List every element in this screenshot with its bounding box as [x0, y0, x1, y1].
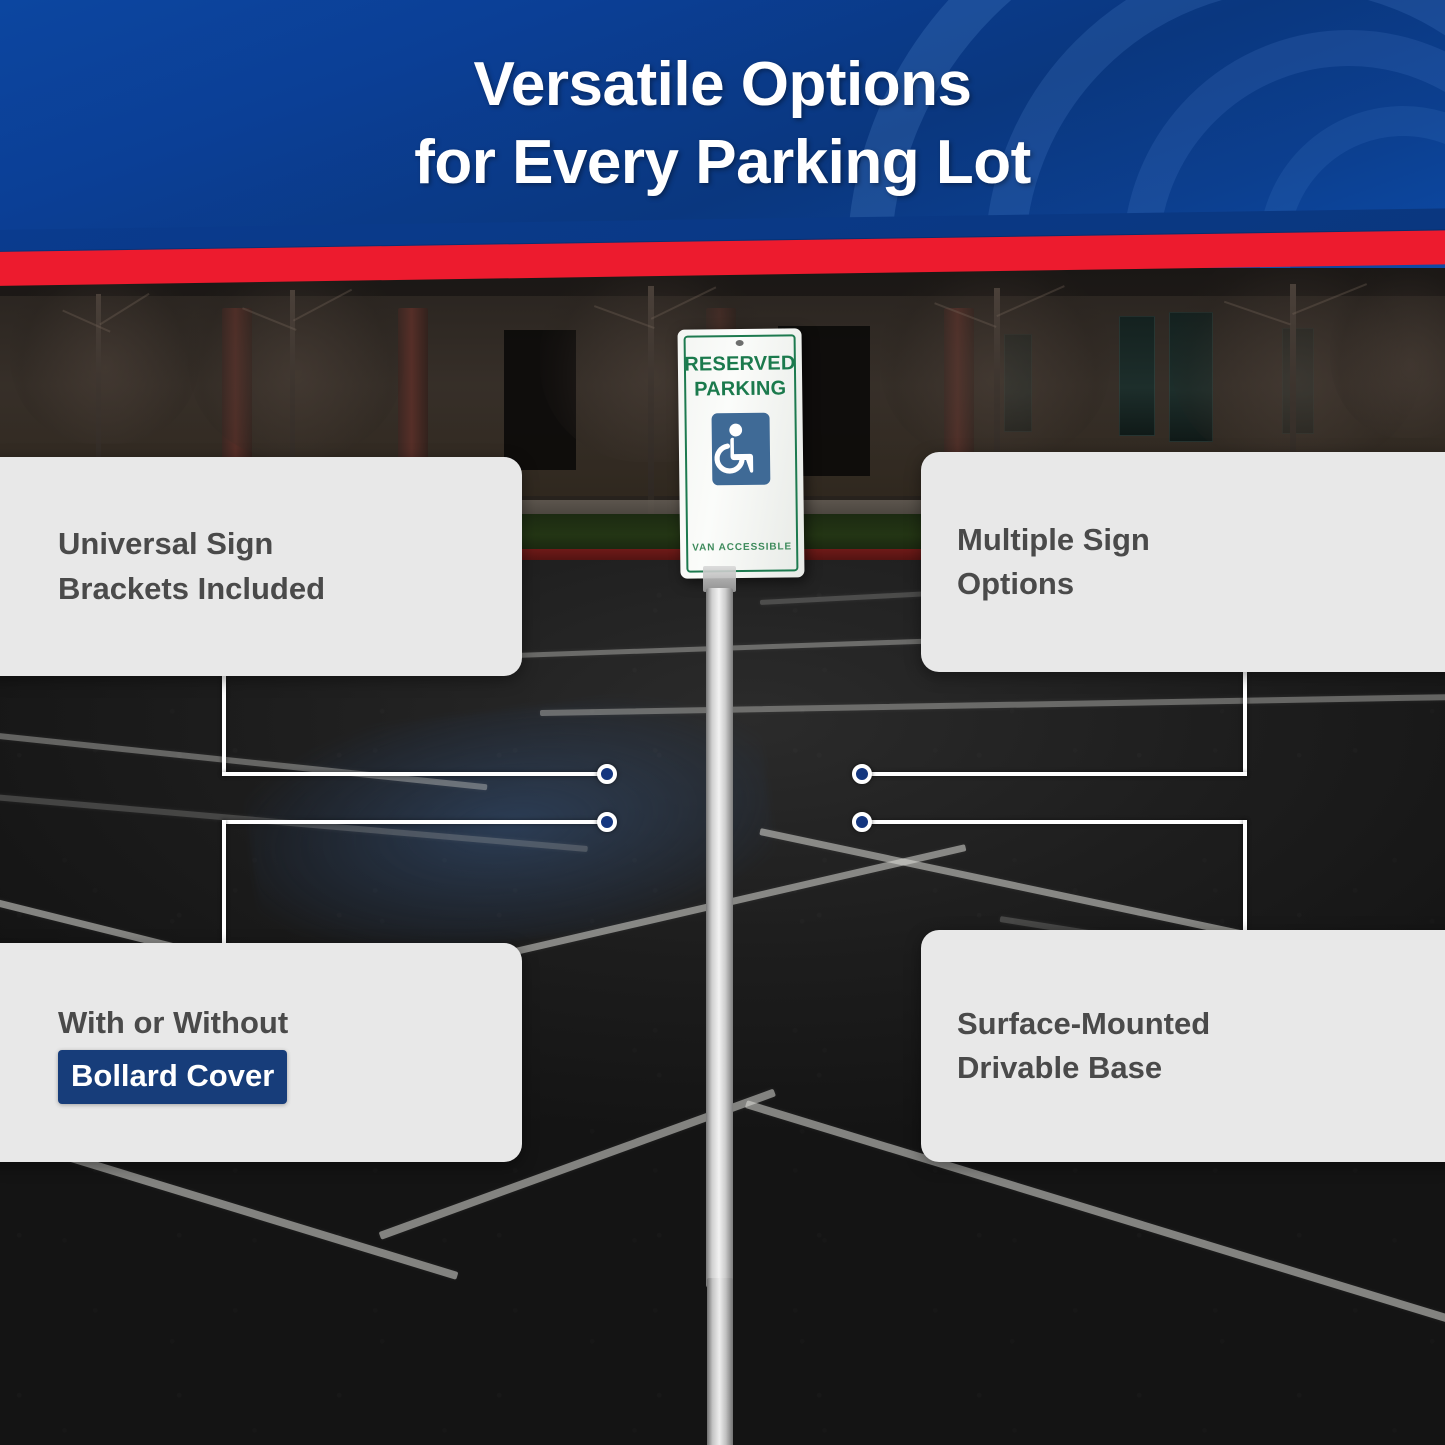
sign-text-reserved: RESERVED — [678, 352, 802, 377]
callout-line-2: Brackets Included — [58, 567, 325, 611]
callout-card-surface-mounted-drivable-base[interactable]: Surface-Mounted Drivable Base — [921, 930, 1445, 1162]
sign-mounting-bolt — [736, 340, 744, 346]
callout-line-2: Options — [957, 562, 1150, 606]
callout-text: Multiple Sign Options — [957, 518, 1150, 606]
callout-text: Surface-Mounted Drivable Base — [957, 1002, 1210, 1090]
bollard-cover-badge: Bollard Cover — [58, 1050, 287, 1104]
sign-text-parking: PARKING — [678, 377, 802, 402]
callout-line-1: With or Without — [58, 1001, 288, 1045]
callout-text: Universal Sign Brackets Included — [58, 522, 325, 610]
callout-line-1: Multiple Sign — [957, 518, 1150, 562]
bollard-post-lower — [707, 1278, 733, 1445]
callout-line-1: Surface-Mounted — [957, 1002, 1210, 1046]
callout-line-1: Universal Sign — [58, 522, 325, 566]
parking-lot-photo: RESERVED PARKING VAN ACCESSIBLE — [0, 268, 1445, 1445]
callout-text: With or Without Bollard Cover — [58, 1001, 288, 1103]
callout-card-universal-sign-brackets[interactable]: Universal Sign Brackets Included — [0, 457, 522, 676]
callout-card-multiple-sign-options[interactable]: Multiple Sign Options — [921, 452, 1445, 672]
reserved-parking-sign: RESERVED PARKING VAN ACCESSIBLE — [677, 328, 804, 578]
title-line-2: for Every Parking Lot — [0, 124, 1445, 202]
callout-line-2: Drivable Base — [957, 1046, 1210, 1090]
callout-card-with-or-without-bollard-cover[interactable]: With or Without Bollard Cover — [0, 943, 522, 1162]
title-line-1: Versatile Options — [473, 50, 971, 119]
bollard-sign-assembly: RESERVED PARKING VAN ACCESSIBLE — [0, 268, 1445, 1445]
bollard-post-upper — [706, 588, 733, 1288]
infographic-page: Versatile Options for Every Parking Lot — [0, 0, 1445, 1445]
wheelchair-accessibility-icon — [712, 413, 771, 486]
sign-text-van-accessible: VAN ACCESSIBLE — [680, 541, 804, 554]
page-title: Versatile Options for Every Parking Lot — [0, 46, 1445, 202]
